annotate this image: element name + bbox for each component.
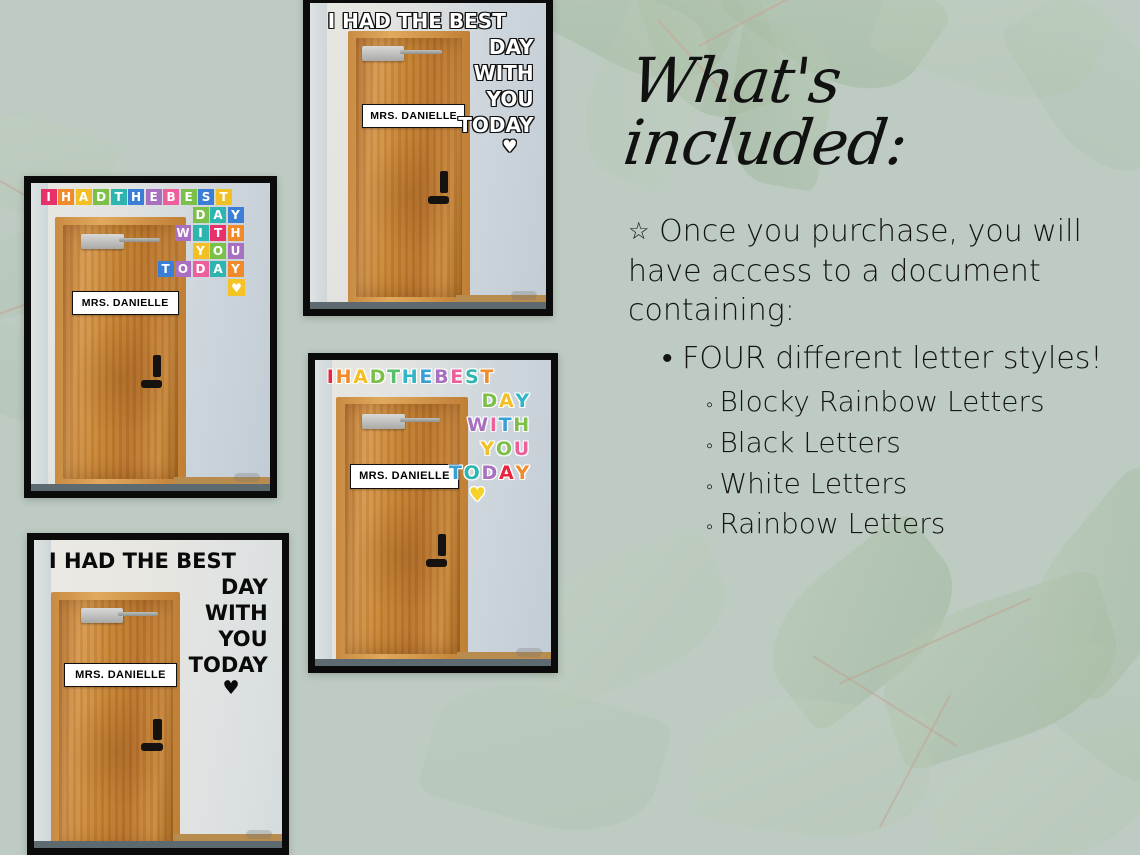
heart-icon: ♥ bbox=[228, 279, 245, 296]
sub-bullet-label: White Letters bbox=[719, 467, 907, 500]
watermark bbox=[234, 473, 260, 482]
letter-tile: O bbox=[210, 243, 226, 259]
letter-glyph: A bbox=[353, 366, 368, 388]
letter-tile: B bbox=[163, 189, 179, 205]
name-sign-text: MRS. DANIELLE bbox=[82, 297, 169, 309]
door-photo: MRS. DANIELLE IHADTHEBEST DAY WITH YOU T… bbox=[31, 183, 270, 491]
watermark bbox=[246, 830, 272, 839]
letter-text: WITH bbox=[205, 601, 268, 625]
letter-row: DAY bbox=[327, 390, 544, 412]
letter-glyph: A bbox=[499, 390, 514, 412]
letter-row: YOU bbox=[49, 627, 270, 651]
floor bbox=[31, 484, 270, 491]
letter-row: WITH bbox=[41, 225, 263, 241]
letter-row: ♥ bbox=[41, 279, 263, 296]
letter-row: WITH bbox=[49, 601, 270, 625]
letter-row: DAY bbox=[41, 207, 263, 223]
letter-glyph: Y bbox=[515, 390, 529, 412]
intro-paragraph: ☆ Once you purchase, you will have acces… bbox=[628, 212, 1128, 331]
wall-lettering-rainbow: IHADTHEBEST DAY WITH YOU TODAY ♥ bbox=[327, 366, 544, 507]
letter-glyph: I bbox=[327, 366, 334, 388]
photo-card-rainbow-letters[interactable]: MRS. DANIELLE IHADTHEBEST DAY WITH YOU T… bbox=[308, 353, 558, 673]
letter-tile: O bbox=[175, 261, 191, 277]
door-handle bbox=[426, 559, 447, 567]
letter-tile: Y bbox=[193, 243, 209, 259]
letter-tile: E bbox=[181, 189, 197, 205]
list-item: ◦ Blocky Rainbow Letters bbox=[706, 382, 1128, 423]
door-lock bbox=[440, 171, 448, 192]
letter-tile: D bbox=[193, 207, 209, 223]
sub-bullet-icon: ◦ bbox=[706, 514, 719, 538]
letter-text: DAY bbox=[221, 575, 268, 599]
sub-bullet-label: Blocky Rainbow Letters bbox=[719, 385, 1044, 418]
sub-bullet-icon: ◦ bbox=[706, 474, 719, 498]
letter-style-list: ◦ Blocky Rainbow Letters◦ Black Letters◦… bbox=[628, 382, 1128, 544]
letter-tile: A bbox=[210, 261, 226, 277]
wall-left-edge bbox=[310, 3, 327, 309]
leaf bbox=[416, 661, 674, 854]
floor bbox=[310, 302, 546, 309]
star-icon: ☆ bbox=[628, 217, 650, 245]
list-item: ◦ Black Letters bbox=[706, 423, 1128, 464]
letter-glyph: Y bbox=[480, 438, 494, 460]
list-item: ◦ Rainbow Letters bbox=[706, 504, 1128, 545]
watermark bbox=[511, 291, 537, 300]
photo-card-black-letters[interactable]: MRS. DANIELLE I HAD THE BEST DAY WITH YO… bbox=[27, 533, 289, 855]
letter-row: WITH bbox=[327, 414, 544, 436]
letter-tile: U bbox=[228, 243, 244, 259]
letter-glyph: T bbox=[499, 414, 512, 436]
letter-row: I HAD THE BEST bbox=[49, 549, 270, 573]
letter-row: TODAY bbox=[327, 462, 544, 484]
letter-tile: T bbox=[216, 189, 232, 205]
floor bbox=[315, 659, 551, 666]
letter-tile: W bbox=[175, 225, 191, 241]
heart-icon: ♥ bbox=[469, 486, 486, 505]
letter-row: WITH bbox=[328, 61, 536, 85]
letter-tile: I bbox=[41, 189, 57, 205]
door-handle bbox=[428, 196, 449, 204]
list-item: ◦ White Letters bbox=[706, 464, 1128, 505]
intro-text: Once you purchase, you will have access … bbox=[628, 214, 1082, 328]
letter-glyph: A bbox=[499, 462, 514, 484]
letter-tile: E bbox=[146, 189, 162, 205]
floor bbox=[34, 841, 282, 848]
heart-icon: ♥ bbox=[502, 139, 517, 156]
letter-glyph: D bbox=[482, 462, 498, 484]
letter-glyph: B bbox=[434, 366, 448, 388]
letter-glyph: E bbox=[419, 366, 432, 388]
letter-tile: A bbox=[210, 207, 226, 223]
letter-glyph: E bbox=[450, 366, 463, 388]
letter-row: YOU bbox=[327, 438, 544, 460]
letter-glyph: O bbox=[464, 462, 480, 484]
letter-glyph: T bbox=[387, 366, 400, 388]
letter-glyph: H bbox=[513, 414, 529, 436]
letter-tile: T bbox=[111, 189, 127, 205]
letter-tile: Y bbox=[228, 207, 244, 223]
letter-row: DAY bbox=[49, 575, 270, 599]
photo-card-blocky-rainbow[interactable]: MRS. DANIELLE IHADTHEBEST DAY WITH YOU T… bbox=[24, 176, 277, 498]
letter-glyph: T bbox=[480, 366, 493, 388]
heart-icon: ♥ bbox=[223, 679, 240, 698]
letter-row: TODAY bbox=[49, 653, 270, 677]
list-item: • FOUR different letter styles! bbox=[662, 339, 1128, 379]
letter-text: YOU bbox=[218, 627, 267, 651]
letter-tile: H bbox=[228, 225, 244, 241]
letter-glyph: T bbox=[449, 462, 462, 484]
letter-text: TODAY bbox=[189, 653, 268, 677]
letter-tile: A bbox=[76, 189, 92, 205]
bullet-icon: • bbox=[662, 341, 673, 376]
page-title: What's included: bbox=[620, 50, 1135, 174]
letter-row: TODAY bbox=[328, 113, 536, 137]
door-handle bbox=[141, 380, 163, 388]
bullet-label: FOUR different letter styles! bbox=[682, 341, 1102, 376]
door-photo: MRS. DANIELLE I HAD THE BEST DAY WITH YO… bbox=[310, 3, 546, 309]
letter-glyph: D bbox=[482, 390, 498, 412]
letter-row: IHADTHEBEST bbox=[327, 366, 544, 388]
letter-text: I HAD THE BEST bbox=[328, 9, 506, 33]
letter-glyph: S bbox=[465, 366, 479, 388]
letter-glyph: O bbox=[496, 438, 512, 460]
letter-row: ♥ bbox=[49, 679, 270, 698]
watermark bbox=[516, 648, 542, 657]
letter-tile: H bbox=[128, 189, 144, 205]
wall-lettering-black: I HAD THE BEST DAY WITH YOU TODAY ♥ bbox=[49, 549, 270, 700]
letter-row: TODAY bbox=[41, 261, 263, 277]
letter-glyph: H bbox=[336, 366, 352, 388]
letter-glyph: U bbox=[514, 438, 529, 460]
letter-tile: D bbox=[193, 261, 209, 277]
letter-tile: Y bbox=[228, 261, 244, 277]
letter-text: I HAD THE BEST bbox=[49, 549, 236, 573]
letter-tile: S bbox=[198, 189, 214, 205]
letter-glyph: D bbox=[370, 366, 386, 388]
letter-row: YOU bbox=[328, 87, 536, 111]
letter-tile: H bbox=[58, 189, 74, 205]
wall-lettering-blocky: IHADTHEBEST DAY WITH YOU TODAY ♥ bbox=[41, 189, 263, 298]
letter-row: IHADTHEBEST bbox=[41, 189, 263, 205]
poster-canvas: MRS. DANIELLE I HAD THE BEST DAY WITH YO… bbox=[0, 0, 1140, 855]
letter-row: ♥ bbox=[328, 139, 536, 156]
letter-row: YOU bbox=[41, 243, 263, 259]
letter-text: YOU bbox=[487, 87, 534, 111]
sub-bullet-icon: ◦ bbox=[706, 392, 719, 416]
letter-glyph: H bbox=[402, 366, 418, 388]
letter-text: TODAY bbox=[458, 113, 533, 137]
letter-tile: I bbox=[193, 225, 209, 241]
letter-text: WITH bbox=[474, 61, 534, 85]
door-lock bbox=[153, 355, 161, 377]
door-lock bbox=[153, 719, 162, 741]
door-lock bbox=[438, 534, 446, 555]
sub-bullet-icon: ◦ bbox=[706, 433, 719, 457]
letter-glyph: Y bbox=[515, 462, 529, 484]
info-panel: What's included: ☆ Once you purchase, yo… bbox=[628, 50, 1128, 545]
letter-tile: D bbox=[93, 189, 109, 205]
sub-bullet-label: Black Letters bbox=[719, 426, 900, 459]
letter-tile: T bbox=[210, 225, 226, 241]
photo-card-white-letters[interactable]: MRS. DANIELLE I HAD THE BEST DAY WITH YO… bbox=[303, 0, 553, 316]
wall-lettering-white: I HAD THE BEST DAY WITH YOU TODAY ♥ bbox=[328, 9, 536, 158]
letter-row: DAY bbox=[328, 35, 536, 59]
door-handle bbox=[141, 743, 163, 751]
door-photo: MRS. DANIELLE IHADTHEBEST DAY WITH YOU T… bbox=[315, 360, 551, 666]
letter-glyph: W bbox=[467, 414, 488, 436]
sub-bullet-label: Rainbow Letters bbox=[719, 507, 945, 540]
letter-row: ♥ bbox=[327, 486, 544, 505]
letter-row: I HAD THE BEST bbox=[328, 9, 536, 33]
letter-text: DAY bbox=[489, 35, 534, 59]
letter-tile: T bbox=[158, 261, 174, 277]
door-photo: MRS. DANIELLE I HAD THE BEST DAY WITH YO… bbox=[34, 540, 282, 848]
letter-glyph: I bbox=[490, 414, 497, 436]
